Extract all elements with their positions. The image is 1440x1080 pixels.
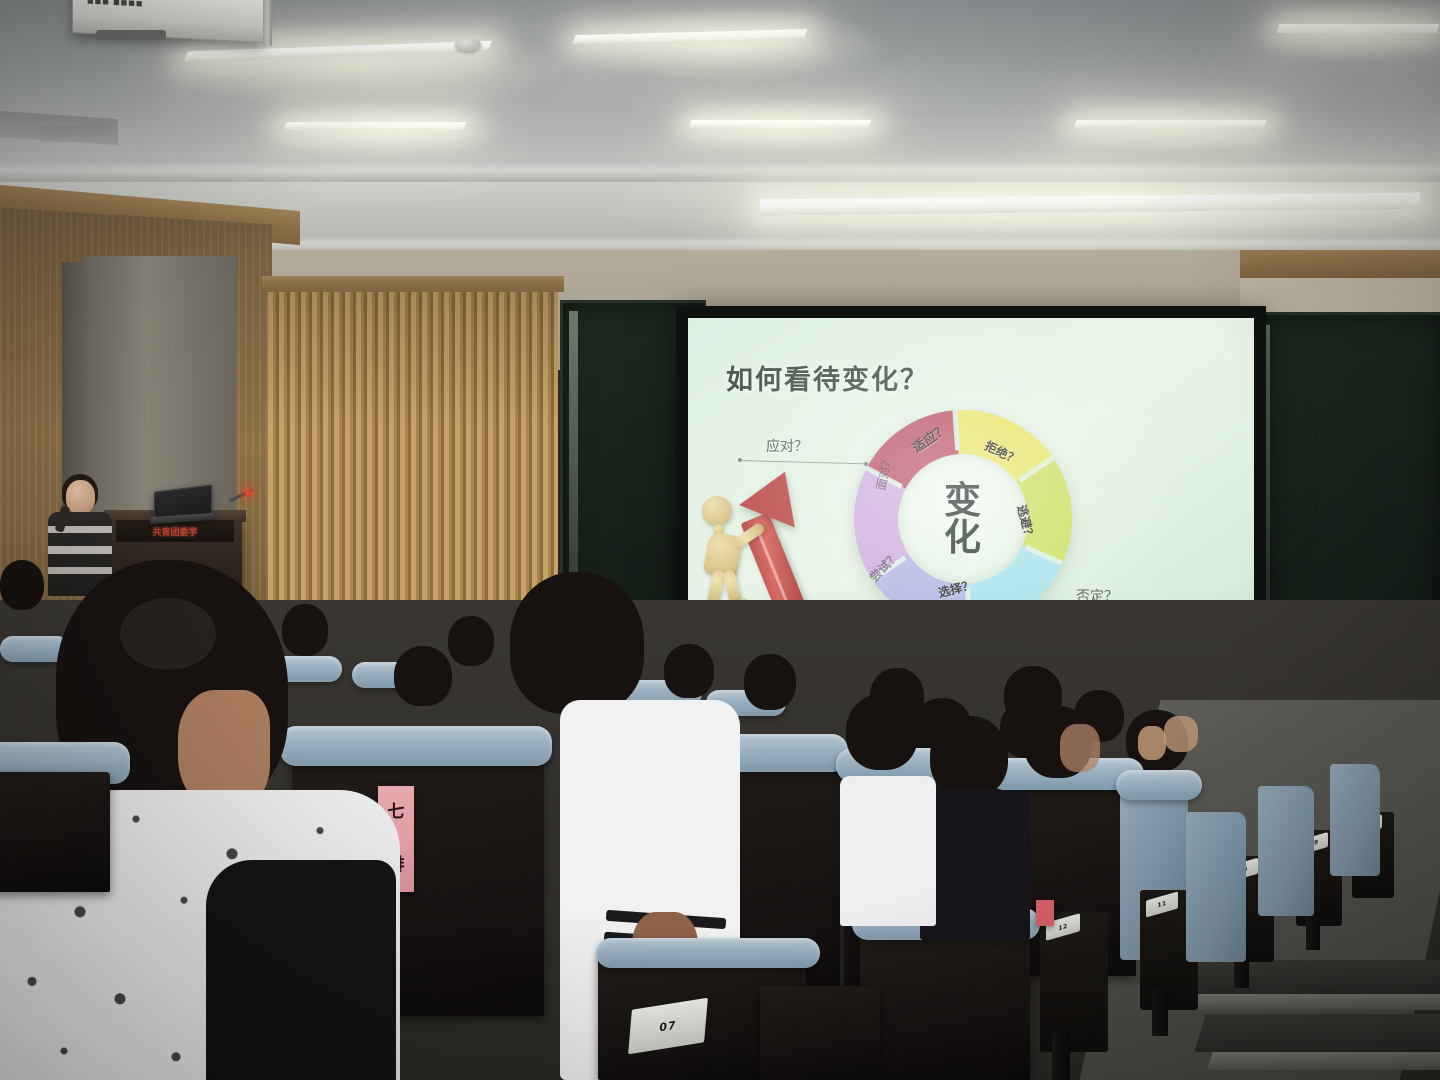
projector-label: ■■■ ■■■■ — [87, 0, 144, 8]
light-glow-3 — [1250, 0, 1440, 62]
light-glow-4 — [250, 100, 510, 158]
light-glow-2 — [560, 6, 890, 82]
podium-nameplate: 共青团委学 — [116, 520, 234, 542]
audience-head-center — [510, 572, 644, 714]
donut-center-line2: 化 — [944, 519, 982, 556]
seat-object-pink — [1036, 900, 1054, 926]
aisle-step-nosing-2 — [1207, 1052, 1440, 1070]
audience-head-far-12 — [0, 560, 44, 610]
audience-shirt-dark — [206, 860, 396, 1080]
aisle-seat-column-2 — [1152, 990, 1168, 1036]
aisle-seat-side-3 — [1258, 786, 1314, 916]
audience-head-mid-2 — [930, 716, 1008, 798]
podium-text: 共青团委学 — [152, 525, 197, 538]
aisle-seat-side-4 — [1330, 764, 1380, 876]
seat-back-foreground-right-b — [760, 986, 880, 1080]
presenter-head — [66, 480, 95, 514]
light-glow-5 — [660, 98, 910, 154]
seat-number-1: 12 — [1058, 922, 1067, 932]
donut-center-line1: 变 — [944, 482, 982, 519]
slat-panel-shadow — [268, 288, 558, 428]
seat-back-foreground-left — [0, 772, 110, 892]
aisle-seat-side-2 — [1186, 812, 1246, 962]
ceiling-vent-left-inner — [40, 126, 110, 142]
audience-person-foreground-dark — [206, 860, 396, 1080]
audience-head-far-4 — [664, 644, 714, 698]
audience-face-far-11 — [1164, 716, 1198, 752]
audience-torso-mid-1 — [840, 776, 936, 926]
slide-title: 如何看待变化？ — [726, 358, 929, 397]
seat-back-foreground-right-a — [860, 930, 1030, 1080]
aisle-step-2 — [1195, 1014, 1440, 1052]
audience-head-highlight — [120, 598, 216, 670]
right-wall-trim — [1240, 250, 1440, 278]
projector-mount — [263, 0, 272, 46]
red-arrow-head — [739, 461, 813, 528]
seat-top-row6-e — [1116, 770, 1202, 800]
figure-head — [702, 496, 732, 526]
presenter-stripe-3 — [48, 567, 112, 574]
lecture-hall-photo: ■■■ ■■■■ 如何看待变化？ — [0, 0, 1440, 1080]
audience-head-far-5 — [744, 654, 796, 710]
audience-face-far-10 — [1138, 726, 1166, 760]
aisle-seat-column-1 — [1052, 1030, 1070, 1080]
seat-top-row6-a — [280, 726, 552, 766]
audience-head-far-1 — [282, 604, 328, 656]
audience-head-far-2 — [448, 616, 494, 666]
smoke-detector-icon — [455, 38, 481, 51]
slat-panel-trim — [262, 276, 564, 292]
audience-face-mid-3 — [1060, 724, 1100, 772]
seat-top-foreground-center — [596, 938, 820, 968]
seat-number-center: 07 — [659, 1018, 677, 1034]
aisle-seat-column-4 — [1306, 910, 1320, 950]
mic-indicator-light — [245, 489, 252, 496]
donut-center-label: 变 化 — [898, 454, 1028, 584]
audience-head-mid-1 — [846, 694, 918, 770]
seat-number-2: 11 — [1157, 900, 1166, 910]
audience-torso-mid-2 — [920, 790, 1030, 940]
aisle-step-nosing-1 — [1184, 994, 1440, 1010]
light-glow-6 — [1045, 98, 1305, 154]
aisle-step-1 — [1173, 960, 1440, 994]
callout-label-respond: 应对？ — [766, 436, 808, 456]
presenter-stripe-2 — [48, 546, 112, 554]
projector-lens — [96, 30, 166, 40]
audience-head-far-3 — [394, 646, 452, 706]
callout-anchor-left — [864, 462, 868, 466]
